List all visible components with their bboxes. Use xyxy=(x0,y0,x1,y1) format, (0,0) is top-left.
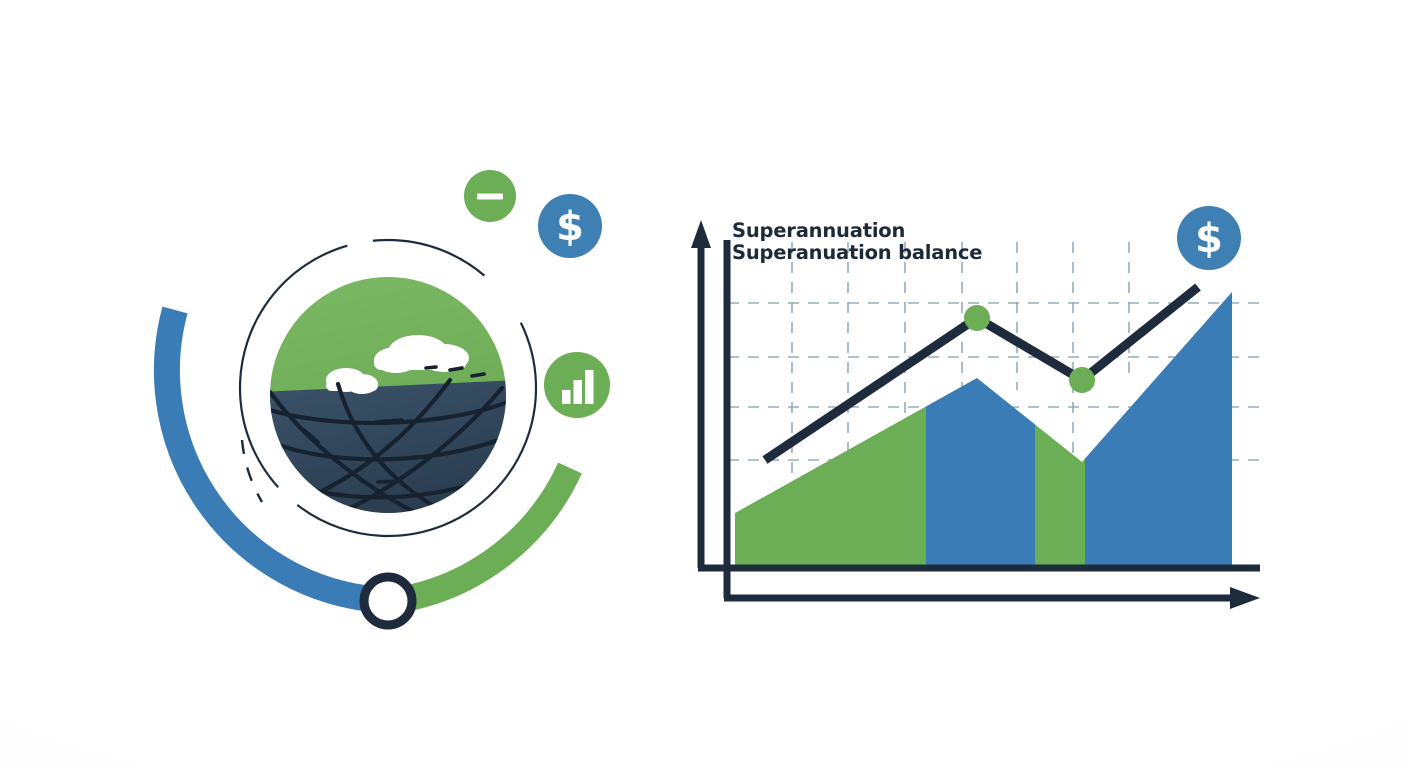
minus-badge[interactable] xyxy=(464,170,516,222)
green-band-2 xyxy=(1035,240,1085,570)
trough-marker[interactable] xyxy=(1069,367,1095,393)
svg-text:$: $ xyxy=(556,204,584,250)
bar-chart-badge[interactable] xyxy=(544,352,610,418)
illustration-canvas: $ xyxy=(0,0,1408,768)
globe-illustration: $ xyxy=(150,130,650,630)
blue-band-2 xyxy=(1085,240,1235,570)
bar-chart-icon xyxy=(544,352,610,418)
globe-sea xyxy=(260,380,520,530)
chart-title-line-2: Superanuation balance xyxy=(732,242,982,264)
minus-icon xyxy=(464,170,516,222)
chart-title-line-1: Superannuation xyxy=(732,219,905,242)
superannuation-chart: Superannuation Superanuation balance $ xyxy=(660,180,1300,640)
chart-title: Superannuation Superanuation balance xyxy=(732,220,982,264)
dollar-icon: $ xyxy=(538,194,602,258)
peak-marker[interactable] xyxy=(964,305,990,331)
dollar-icon: $ xyxy=(1177,206,1241,270)
blue-band-1 xyxy=(926,240,1035,570)
dollar-badge-left[interactable]: $ xyxy=(538,194,602,258)
area-fill xyxy=(735,240,1235,570)
green-band-1 xyxy=(735,240,926,570)
y-axis-arrowhead xyxy=(691,220,711,248)
svg-text:$: $ xyxy=(1195,216,1223,262)
x-axis-arrowhead xyxy=(1230,587,1260,609)
dollar-badge-chart[interactable]: $ xyxy=(1177,206,1241,270)
